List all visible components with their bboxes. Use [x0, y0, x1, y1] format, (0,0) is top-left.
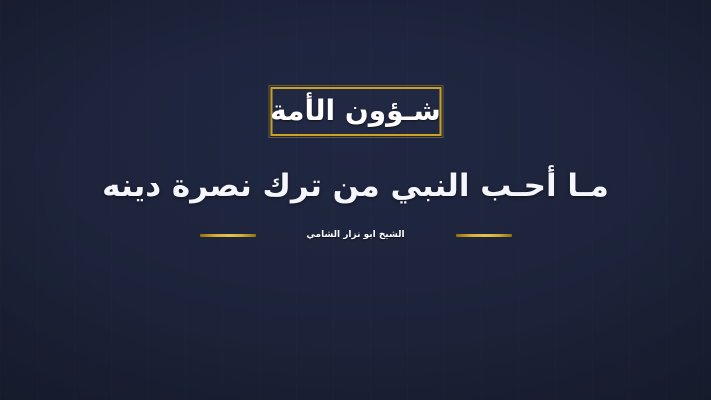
divider-rule-left: [200, 234, 256, 237]
headline-text: مـا أحـب النبي من ترك نصرة دينه: [0, 168, 711, 206]
program-title-text: شـؤون الأمة: [270, 97, 441, 127]
slide-content: شـؤون الأمة مـا أحـب النبي من ترك نصرة د…: [0, 0, 711, 400]
program-title-plate: شـؤون الأمة: [270, 87, 441, 136]
divider-rule-right: [456, 234, 512, 237]
speaker-name: الشيخ ابو نزار الشامي: [256, 231, 456, 240]
slide-canvas: شـؤون الأمة مـا أحـب النبي من ترك نصرة د…: [0, 0, 711, 400]
byline-row: الشيخ ابو نزار الشامي: [200, 226, 512, 244]
